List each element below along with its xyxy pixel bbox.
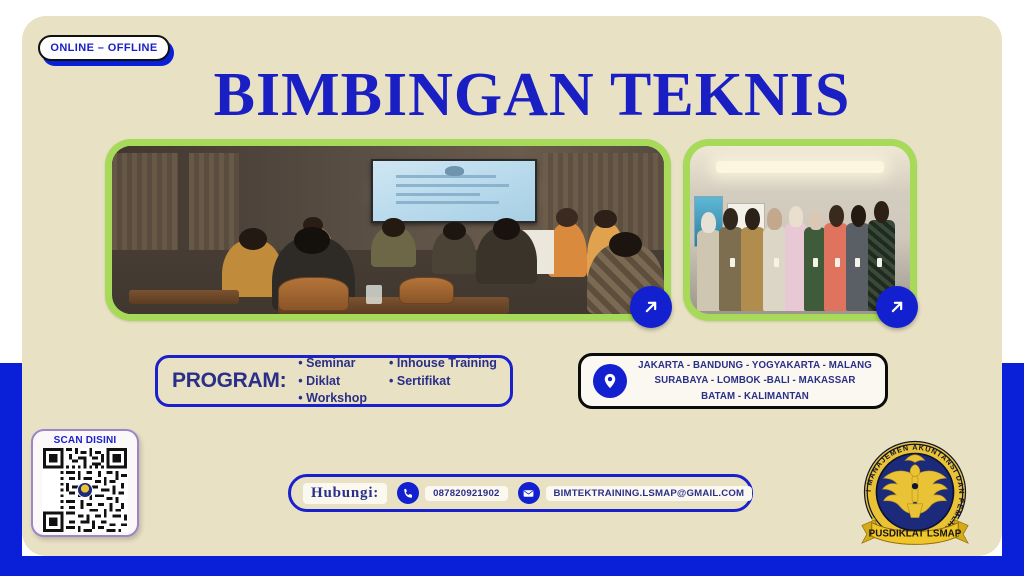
program-column-2: Inhouse Training Sertifikat: [389, 355, 497, 407]
group-member: [804, 227, 826, 311]
page-title: BIMBINGAN TEKNIS: [0, 60, 1024, 131]
contact-bar: Hubungi: 087820921902 BIMTEKTRAINING.LSM…: [288, 474, 753, 512]
attendee-head: [294, 227, 330, 254]
program-label: PROGRAM:: [172, 369, 286, 393]
program-item: Seminar: [298, 355, 367, 372]
member-head: [851, 205, 866, 227]
program-column-1: Seminar Diklat Workshop: [298, 355, 367, 407]
badge-label: ONLINE – OFFLINE: [50, 42, 157, 54]
locations-line: BATAM - KALIMANTAN: [635, 389, 875, 404]
wall-panel: [189, 153, 239, 250]
logo-ribbon-text: PUSDIKLAT LSMAP: [869, 528, 962, 539]
arrow-up-right-icon: [641, 297, 661, 317]
seminar-photo-arrow-button[interactable]: [630, 286, 672, 328]
group-member: [719, 227, 743, 311]
member-head: [809, 210, 823, 230]
group-member: [697, 230, 721, 311]
group-photo-arrow-button[interactable]: [876, 286, 918, 328]
garuda-seal-logo: LEMBAGA STUDI MANAJEMEN AKUNTANSI DAN PE…: [856, 435, 974, 553]
program-item: Inhouse Training: [389, 355, 497, 372]
seminar-room-photo[interactable]: [105, 139, 671, 321]
program-item: Sertifikat: [389, 373, 497, 390]
seminar-scene: [112, 146, 664, 314]
qr-card[interactable]: SCAN DISINI: [31, 429, 139, 537]
table: [129, 290, 239, 303]
chair: [399, 277, 454, 304]
group-member: [763, 227, 787, 311]
attendee-head: [382, 218, 404, 236]
attendee-head: [239, 228, 267, 250]
group-scene: [690, 146, 910, 314]
email-contact[interactable]: BIMTEKTRAINING.LSMAP@GMAIL.COM: [518, 482, 753, 504]
program-box: PROGRAM: Seminar Diklat Workshop Inhouse…: [155, 355, 513, 407]
phone-contact[interactable]: 087820921902: [397, 482, 507, 504]
member-head: [701, 212, 716, 234]
right-blue-band: [1002, 363, 1024, 576]
ceiling-light: [716, 161, 883, 173]
badge-pill: ONLINE – OFFLINE: [38, 35, 170, 61]
member-head: [789, 206, 803, 226]
group-member: [741, 227, 765, 311]
wall-panel: [112, 153, 178, 250]
chair: [278, 277, 350, 311]
presenter: [548, 223, 587, 277]
projector-screen: [371, 159, 537, 223]
member-head: [767, 208, 782, 230]
envelope-icon: [518, 482, 540, 504]
member-head: [829, 205, 844, 227]
program-item: Diklat: [298, 373, 367, 390]
locations-line: JAKARTA - BANDUNG - YOGYAKARTA - MALANG: [635, 358, 875, 373]
map-pin-icon: [593, 364, 627, 398]
group-member: [785, 223, 807, 310]
qr-title: SCAN DISINI: [38, 435, 132, 446]
locations-box: JAKARTA - BANDUNG - YOGYAKARTA - MALANG …: [578, 353, 888, 409]
arrow-up-right-icon: [887, 297, 907, 317]
group-photo-inner: [690, 146, 910, 314]
online-offline-badge[interactable]: ONLINE – OFFLINE: [38, 35, 170, 61]
poster-canvas: ONLINE – OFFLINE BIMBINGAN TEKNIS: [0, 0, 1024, 576]
attendee-head: [609, 232, 642, 257]
phone-icon: [397, 482, 419, 504]
glass: [366, 285, 383, 303]
left-blue-band: [0, 363, 22, 576]
program-item: Workshop: [298, 390, 367, 407]
contact-label: Hubungi:: [303, 483, 387, 504]
presenter-head: [594, 210, 616, 228]
locations-line: SURABAYA - LOMBOK -BALI - MAKASSAR: [635, 373, 875, 388]
program-columns: Seminar Diklat Workshop Inhouse Training…: [298, 355, 497, 407]
locations-text: JAKARTA - BANDUNG - YOGYAKARTA - MALANG …: [635, 358, 875, 403]
qr-code-icon: [42, 448, 128, 532]
bottom-blue-band: [0, 556, 1024, 576]
email-address: BIMTEKTRAINING.LSMAP@GMAIL.COM: [546, 486, 753, 501]
qr-center-logo: [77, 482, 93, 498]
presenter-head: [556, 208, 578, 226]
phone-number: 087820921902: [425, 486, 507, 501]
seminar-photo-inner: [112, 146, 664, 314]
